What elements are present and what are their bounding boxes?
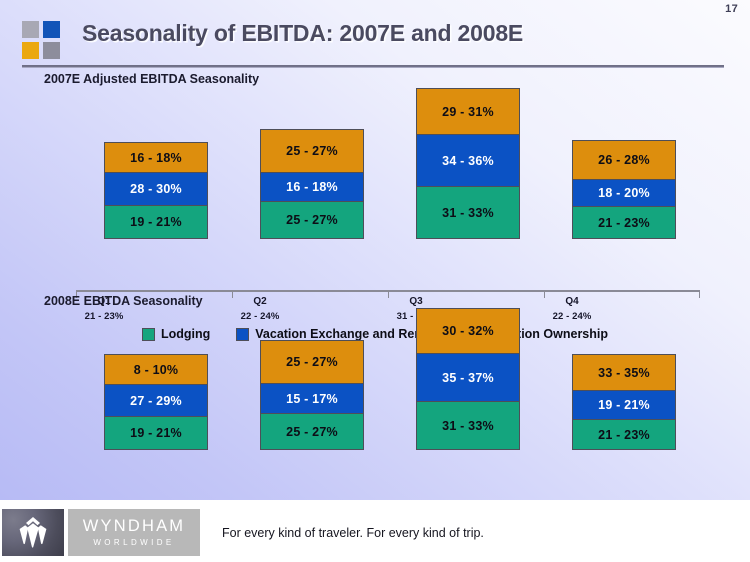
brand-square-gray-icon	[22, 21, 39, 38]
segment-lodging: 19 - 21%	[104, 206, 208, 239]
segment-vacation-ownership: 33 - 35%	[572, 354, 676, 391]
bar-q4[interactable]: 33 - 35% 19 - 21% 21 - 23%	[572, 354, 676, 450]
plot-area: 16 - 18% 28 - 30% 19 - 21% 25 - 27% 16 -…	[76, 88, 700, 239]
brand-square-blue-icon	[43, 21, 60, 38]
slide-header: Seasonality of EBITDA: 2007E and 2008E	[0, 14, 750, 66]
chart-2008e: 2008E EBITDA Seasonality 8 - 10% 27 - 29…	[0, 288, 750, 496]
bar-q2[interactable]: 25 - 27% 15 - 17% 25 - 27%	[260, 340, 364, 450]
segment-vacation-ownership: 16 - 18%	[104, 142, 208, 173]
plot-area: 8 - 10% 27 - 29% 19 - 21% 25 - 27% 15 - …	[76, 308, 700, 450]
segment-lodging: 25 - 27%	[260, 414, 364, 450]
segment-vacation-exchange: 28 - 30%	[104, 173, 208, 206]
segment-lodging: 21 - 23%	[572, 207, 676, 239]
brand-subtitle: WORLDWIDE	[93, 539, 174, 547]
page-title: Seasonality of EBITDA: 2007E and 2008E	[82, 20, 523, 47]
segment-vacation-exchange: 34 - 36%	[416, 135, 520, 187]
segment-lodging: 19 - 21%	[104, 417, 208, 450]
segment-vacation-ownership: 30 - 32%	[416, 308, 520, 354]
brand-name: WYNDHAM	[83, 518, 185, 535]
bar-q3[interactable]: 30 - 32% 35 - 37% 31 - 33%	[416, 308, 520, 450]
bar-q1[interactable]: 8 - 10% 27 - 29% 19 - 21%	[104, 354, 208, 450]
segment-vacation-exchange: 19 - 21%	[572, 391, 676, 420]
segment-vacation-ownership: 8 - 10%	[104, 354, 208, 385]
footer-tagline: For every kind of traveler. For every ki…	[222, 526, 484, 540]
bar-q2[interactable]: 25 - 27% 16 - 18% 25 - 27%	[260, 129, 364, 239]
segment-vacation-ownership: 25 - 27%	[260, 129, 364, 173]
slide-footer: WYNDHAM WORLDWIDE For every kind of trav…	[0, 500, 750, 562]
slide: 17 Seasonality of EBITDA: 2007E and 2008…	[0, 0, 750, 562]
segment-vacation-exchange: 15 - 17%	[260, 384, 364, 414]
brand-square-orange-icon	[22, 42, 39, 59]
chart-2007e: 2007E Adjusted EBITDA Seasonality 16 - 1…	[0, 66, 750, 281]
chart-title: 2008E EBITDA Seasonality	[44, 294, 203, 308]
bar-q4[interactable]: 26 - 28% 18 - 20% 21 - 23%	[572, 140, 676, 239]
segment-lodging: 25 - 27%	[260, 202, 364, 239]
segment-vacation-exchange: 18 - 20%	[572, 180, 676, 207]
segment-vacation-exchange: 27 - 29%	[104, 385, 208, 417]
segment-vacation-ownership: 26 - 28%	[572, 140, 676, 180]
brand-squares-icon	[22, 21, 60, 59]
segment-lodging: 31 - 33%	[416, 402, 520, 450]
segment-vacation-ownership: 29 - 31%	[416, 88, 520, 135]
segment-lodging: 31 - 33%	[416, 187, 520, 239]
wyndham-w-logo-icon	[2, 509, 64, 556]
segment-vacation-exchange: 16 - 18%	[260, 173, 364, 202]
bar-q3[interactable]: 29 - 31% 34 - 36% 31 - 33%	[416, 88, 520, 239]
chart-title: 2007E Adjusted EBITDA Seasonality	[44, 72, 259, 86]
segment-lodging: 21 - 23%	[572, 420, 676, 450]
wyndham-wordmark: WYNDHAM WORLDWIDE	[68, 509, 200, 556]
brand-square-dark-icon	[43, 42, 60, 59]
bar-q1[interactable]: 16 - 18% 28 - 30% 19 - 21%	[104, 142, 208, 239]
segment-vacation-exchange: 35 - 37%	[416, 354, 520, 402]
segment-vacation-ownership: 25 - 27%	[260, 340, 364, 384]
